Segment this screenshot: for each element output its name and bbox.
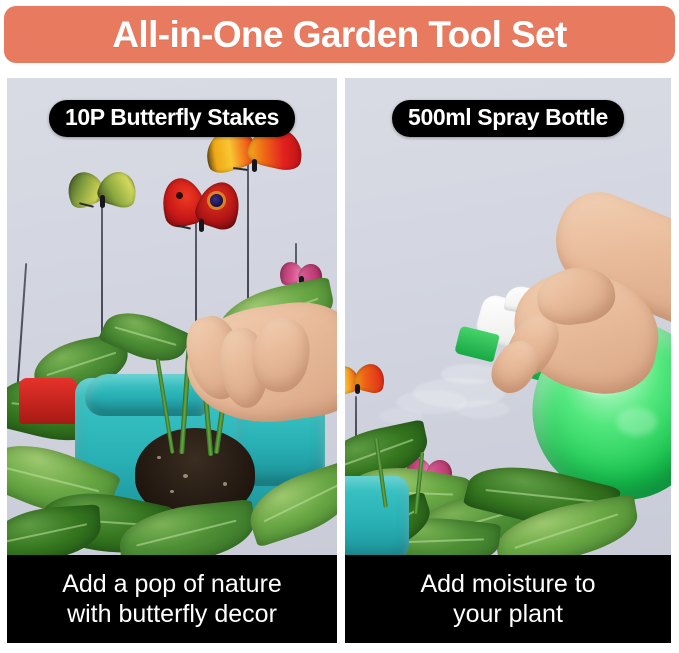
soil-speck [223,482,227,486]
caption-butterfly-stakes: Add a pop of nature with butterfly decor [7,555,337,643]
panel-label-text: 500ml Spray Bottle [408,104,608,130]
soil-speck [183,474,188,478]
butterfly-eyespot [176,192,183,199]
butterfly-body [355,384,360,394]
yellow-green-butterfly [67,170,137,212]
panel-label-butterfly-stakes: 10P Butterfly Stakes [49,100,295,137]
butterfly-body [252,159,257,172]
page-title: All-in-One Garden Tool Set [112,16,566,53]
butterfly-stakes-photo [7,78,337,558]
red-pot-accent [19,378,77,424]
panel-label-spray-bottle: 500ml Spray Bottle [392,100,624,137]
butterfly-antenna [233,167,248,171]
caption-line-1: Add a pop of nature [62,569,282,600]
caption-line-2: your plant [453,599,563,630]
header-banner: All-in-One Garden Tool Set [4,6,675,63]
orange-red-butterfly [345,364,385,396]
soil-speck [157,456,161,459]
panel-butterfly-stakes: 10P Butterfly Stakes Add a pop of nature… [7,78,337,648]
panel-label-text: 10P Butterfly Stakes [65,104,279,130]
plant-leaf [7,504,103,558]
caption-spray-bottle: Add moisture to your plant [345,555,671,643]
caption-line-2: with butterfly decor [67,599,277,630]
bottle-highlight [617,408,657,436]
butterfly-body [100,195,105,208]
teal-planter [345,476,409,558]
butterfly-body [199,219,204,232]
panel-divider [337,78,345,653]
stake-wire [17,263,27,383]
panel-spray-bottle: 500ml Spray Bottle Add moisture to your … [345,78,671,648]
butterfly-eyespot [210,194,223,207]
red-spotted-butterfly [162,178,240,234]
caption-line-1: Add moisture to [420,569,595,600]
product-infographic: All-in-One Garden Tool Set [0,0,679,653]
mist-particle [455,400,509,418]
spray-bottle-photo [345,78,671,558]
soil-speck [170,490,174,493]
panel-row: 10P Butterfly Stakes Add a pop of nature… [0,78,679,653]
